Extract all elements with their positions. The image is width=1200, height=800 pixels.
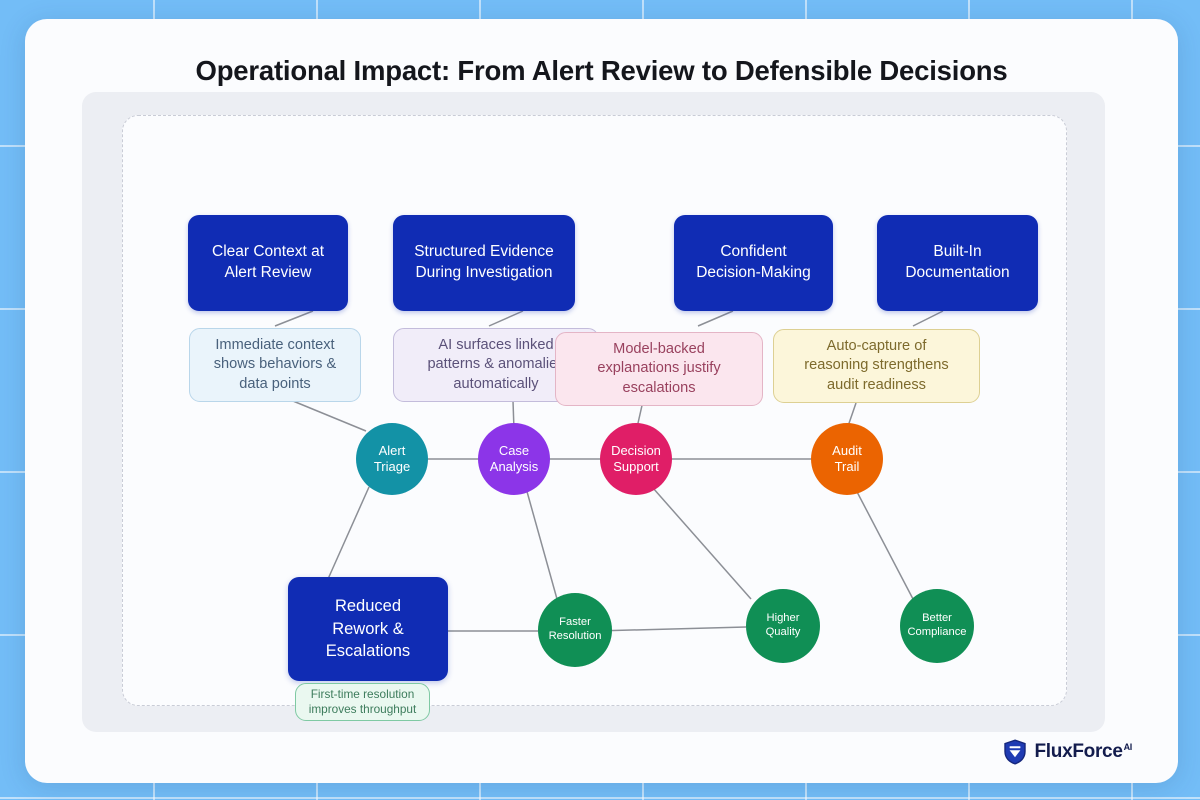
link-decision-support-to-higher-quality [653, 488, 751, 599]
node-higher-quality[interactable]: HigherQuality [746, 589, 820, 663]
caption-immediate-context[interactable]: Immediate contextshows behaviors &data p… [189, 328, 361, 402]
link-clear-context-to-caption [275, 311, 313, 326]
diagram-canvas: Clear Context atAlert Review Structured … [122, 115, 1067, 706]
pillar-confident-decision[interactable]: ConfidentDecision-Making [674, 215, 833, 311]
node-faster-resolution-label: FasterResolution [549, 616, 602, 643]
caption-ai-surfaces-label: AI surfaces linkedpatterns & anomaliesau… [427, 336, 564, 394]
link-structured-evidence-to-caption [489, 311, 523, 326]
brand-name: FluxForce [1034, 741, 1122, 762]
note-first-time-resolution-label: First-time resolutionimproves throughput [309, 687, 417, 717]
brand-superscript: AI [1124, 742, 1132, 752]
link-faster-resolution-to-higher-quality [595, 627, 746, 631]
main-card: Operational Impact: From Alert Review to… [25, 19, 1178, 783]
caption-immediate-context-label: Immediate contextshows behaviors &data p… [214, 336, 337, 394]
shield-icon [1003, 739, 1027, 765]
node-higher-quality-label: HigherQuality [766, 612, 801, 639]
pillar-confident-decision-label: ConfidentDecision-Making [696, 242, 811, 284]
pillar-built-in-documentation-label: Built-InDocumentation [905, 242, 1009, 284]
link-confident-decision-to-caption [698, 311, 733, 326]
node-better-compliance-label: BetterCompliance [907, 612, 966, 639]
link-caption-blue-to-alert-triage [293, 401, 366, 431]
caption-model-backed[interactable]: Model-backedexplanations justifyescalati… [555, 332, 763, 406]
caption-model-backed-label: Model-backedexplanations justifyescalati… [597, 340, 720, 398]
link-audit-trail-to-better-compliance [855, 488, 913, 599]
summary-box-reduced-rework[interactable]: ReducedRework &Escalations [288, 577, 448, 681]
pillar-structured-evidence[interactable]: Structured EvidenceDuring Investigation [393, 215, 575, 311]
pillar-structured-evidence-label: Structured EvidenceDuring Investigation [414, 242, 554, 284]
link-alert-triage-to-reduced-rework [328, 487, 369, 579]
pillar-built-in-documentation[interactable]: Built-InDocumentation [877, 215, 1038, 311]
node-case-analysis[interactable]: CaseAnalysis [478, 423, 550, 495]
node-case-analysis-label: CaseAnalysis [490, 443, 538, 475]
node-audit-trail[interactable]: AuditTrail [811, 423, 883, 495]
node-better-compliance[interactable]: BetterCompliance [900, 589, 974, 663]
node-faster-resolution[interactable]: FasterResolution [538, 593, 612, 667]
summary-box-reduced-rework-label: ReducedRework &Escalations [326, 595, 410, 663]
node-decision-support[interactable]: DecisionSupport [600, 423, 672, 495]
node-audit-trail-label: AuditTrail [832, 443, 862, 475]
brand-logo: FluxForceAI [1003, 739, 1132, 765]
brand-wordmark: FluxForceAI [1034, 741, 1132, 763]
pillar-clear-context-label: Clear Context atAlert Review [212, 242, 324, 284]
node-alert-triage-label: AlertTriage [374, 443, 410, 475]
caption-auto-capture-label: Auto-capture ofreasoning strengthensaudi… [804, 337, 948, 395]
link-built-in-docs-to-caption [913, 311, 943, 326]
node-alert-triage[interactable]: AlertTriage [356, 423, 428, 495]
node-decision-support-label: DecisionSupport [611, 443, 661, 475]
link-case-analysis-to-faster-resolution [526, 488, 557, 599]
note-first-time-resolution[interactable]: First-time resolutionimproves throughput [295, 683, 430, 721]
pillar-clear-context[interactable]: Clear Context atAlert Review [188, 215, 348, 311]
page-title: Operational Impact: From Alert Review to… [25, 55, 1178, 87]
caption-auto-capture[interactable]: Auto-capture ofreasoning strengthensaudi… [773, 329, 980, 403]
